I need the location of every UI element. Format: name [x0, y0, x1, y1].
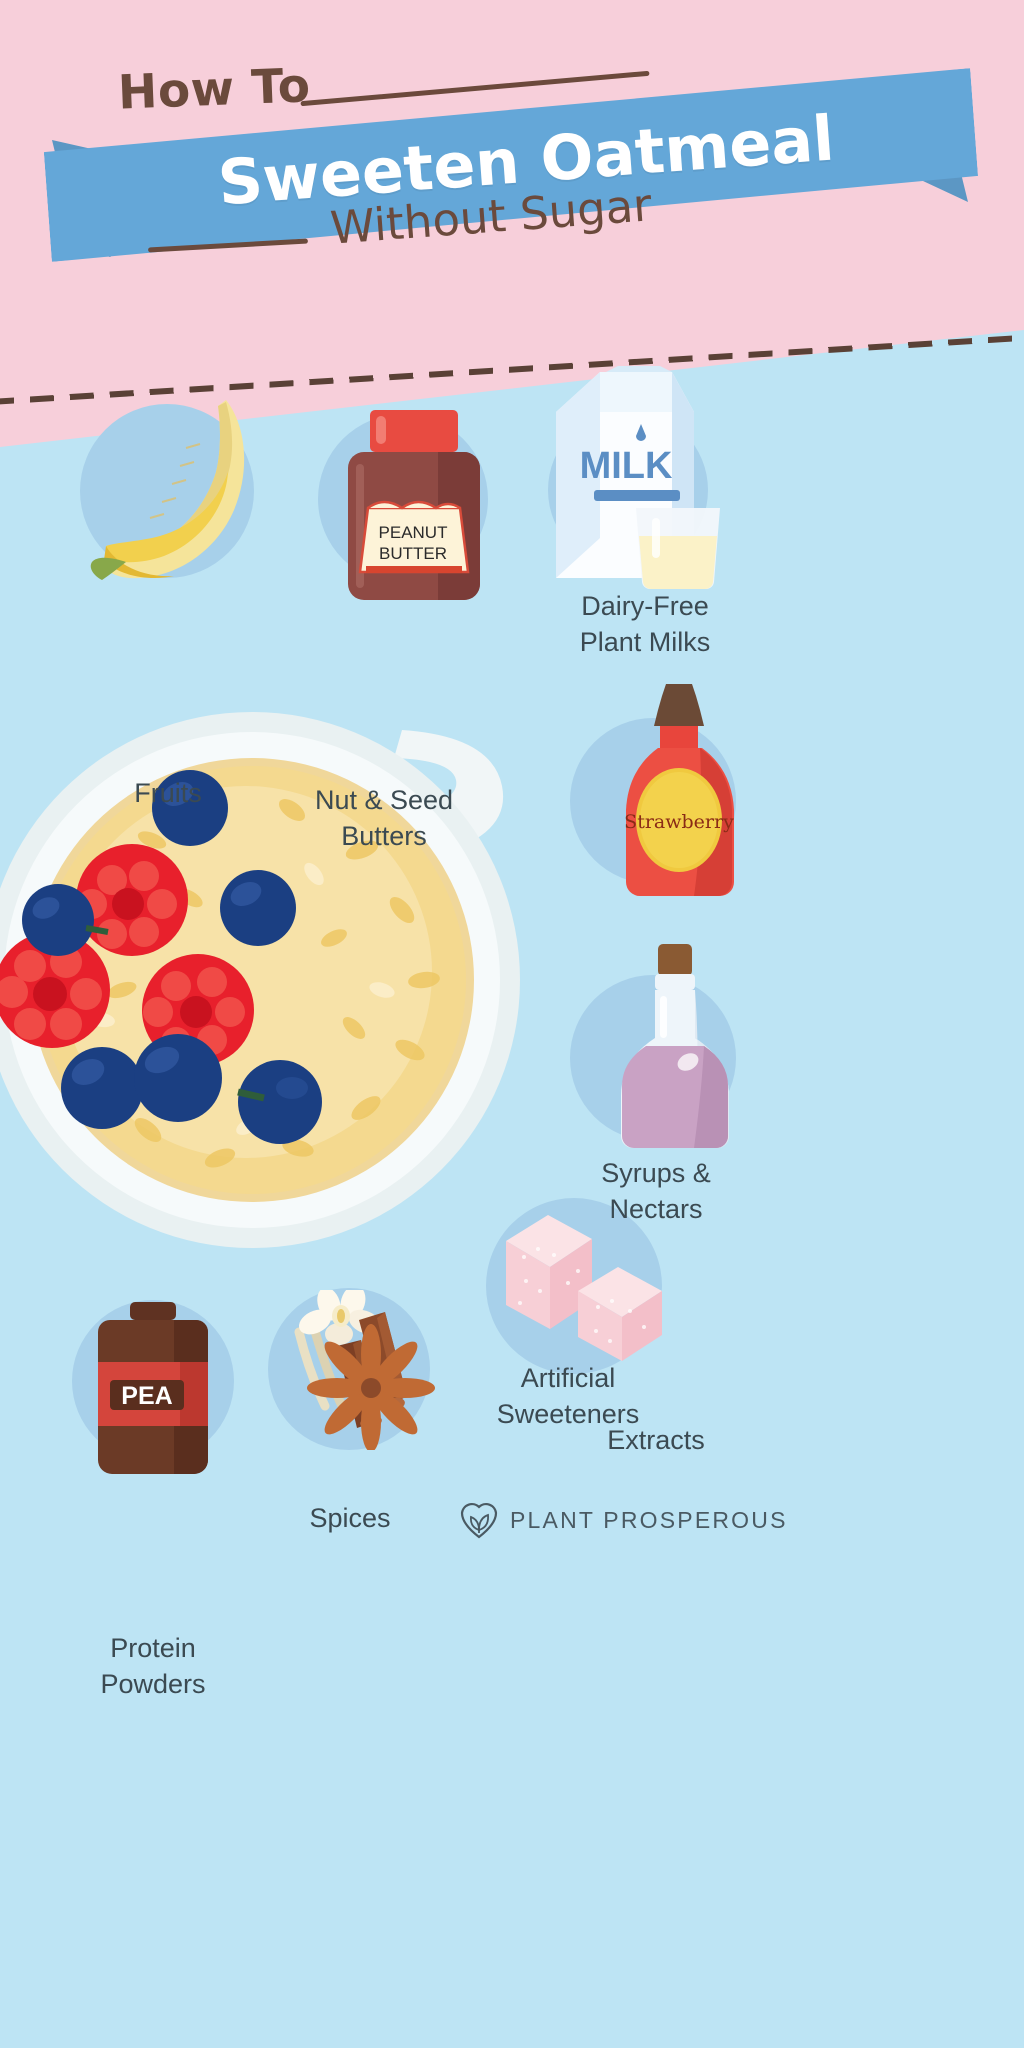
blueberry — [61, 1047, 143, 1129]
spices-label-line1: Spices — [250, 1500, 450, 1536]
protein-label-text: Protein Powders — [42, 1630, 264, 1702]
brand-name: PLANT PROSPEROUS — [510, 1507, 788, 1534]
fruits-label: Fruits — [60, 775, 276, 811]
milk-carton-icon: MILK — [540, 360, 740, 590]
blueberry — [134, 1034, 222, 1122]
protein-jar-icon: PEA — [88, 1300, 218, 1480]
eyebrow-text: How To — [117, 58, 311, 120]
infographic-page: How To Sweeten Oatmeal Without Sugar Fru… — [0, 0, 1024, 2048]
nut-butters-label-line1: Nut & Seed — [278, 782, 490, 818]
protein-label-line1: Protein — [42, 1630, 264, 1666]
plant-milks-label-line1: Dairy-Free — [520, 588, 770, 624]
artificial-label: Artificial Sweeteners — [448, 1360, 688, 1432]
nut-butters-label-line2: Butters — [278, 818, 490, 854]
artificial-label-line2: Sweeteners — [448, 1396, 688, 1432]
spices-label: Spices — [250, 1500, 450, 1536]
syrups-label-line2: Nectars — [548, 1191, 764, 1227]
milk-label: MILK — [580, 445, 673, 487]
pb-label-line2: BUTTER — [379, 544, 447, 563]
blueberry — [238, 1060, 322, 1144]
banana-icon — [76, 392, 276, 592]
protein-label-line2: Powders — [42, 1666, 264, 1702]
syrup-flavor-label: Strawberry — [624, 811, 734, 833]
heart-leaf-logo-icon — [460, 1500, 498, 1540]
oatmeal-bowl-illustration — [0, 690, 562, 1250]
blueberry — [220, 870, 296, 946]
raspberry — [76, 844, 188, 956]
extract-bottle-icon — [600, 940, 750, 1155]
syrups-label: Syrups & Nectars — [548, 1155, 764, 1227]
syrups-label-line1: Syrups & — [548, 1155, 764, 1191]
plant-milks-label-line2: Plant Milks — [520, 624, 770, 660]
artificial-label-line1: Artificial — [448, 1360, 688, 1396]
pb-label-line1: PEANUT — [379, 523, 448, 542]
nut-butters-label: Nut & Seed Butters — [278, 782, 490, 854]
plant-milks-label: Dairy-Free Plant Milks — [520, 588, 770, 660]
syrup-bottle-icon: Strawberry — [600, 678, 760, 908]
star-anise — [307, 1324, 435, 1450]
fruits-label-line1: Fruits — [60, 775, 276, 811]
peanut-butter-jar-icon: PEANUT BUTTER — [318, 402, 508, 612]
spices-icon — [275, 1290, 435, 1450]
protein-label: PEA — [121, 1382, 172, 1410]
brand-logo: PLANT PROSPEROUS — [460, 1500, 788, 1540]
